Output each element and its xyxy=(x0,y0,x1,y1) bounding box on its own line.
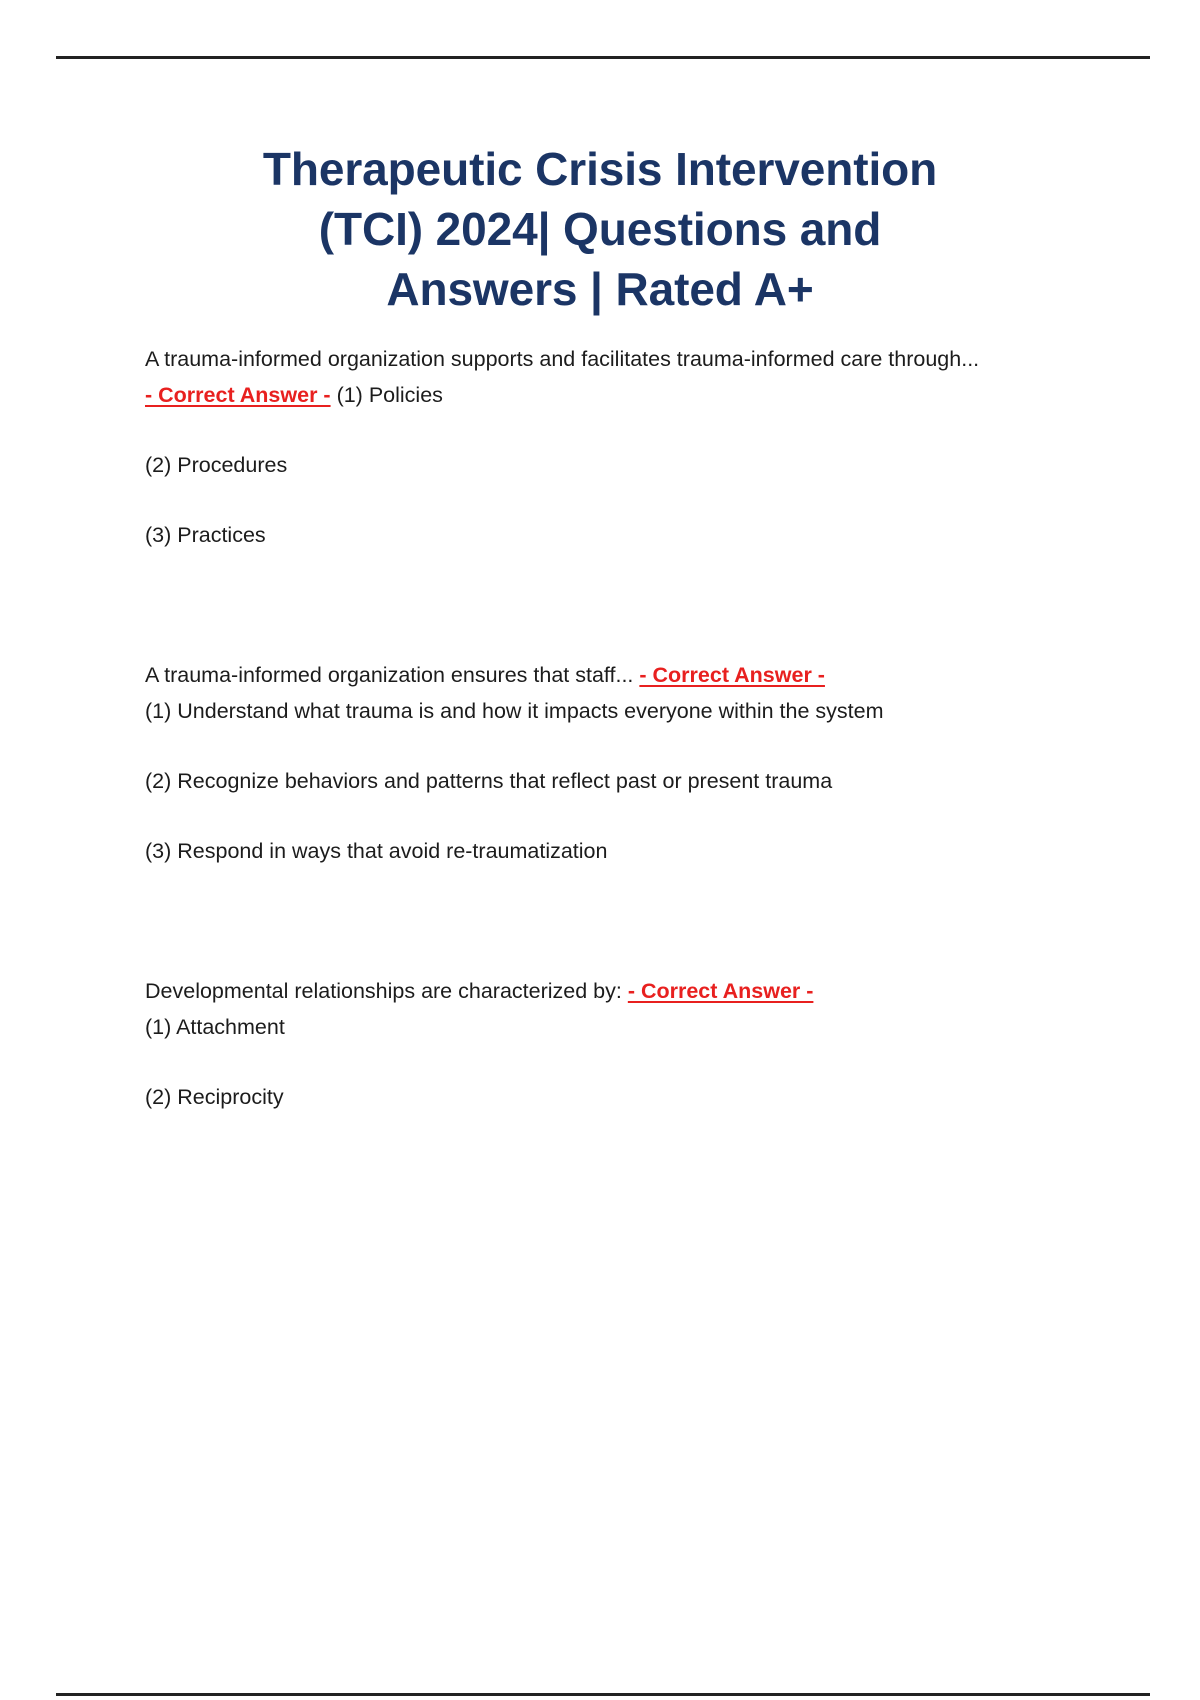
qa-body: A trauma-informed organization supports … xyxy=(145,341,1055,1115)
question-text: A trauma-informed organization ensures t… xyxy=(145,663,633,687)
correct-answer-marker: - Correct Answer - xyxy=(145,383,331,407)
answer-item: (2) Recognize behaviors and patterns tha… xyxy=(145,763,1055,799)
question-line: A trauma-informed organization supports … xyxy=(145,341,1055,413)
header-rule xyxy=(56,56,1150,59)
answer-item: (3) Practices xyxy=(145,517,1055,553)
question-line: A trauma-informed organization ensures t… xyxy=(145,657,1055,693)
answer-item: (1) Attachment xyxy=(145,1009,1055,1045)
block-spacer xyxy=(145,553,1055,657)
answer-item: (3) Respond in ways that avoid re-trauma… xyxy=(145,833,1055,869)
block-spacer xyxy=(145,869,1055,973)
footer-rule xyxy=(56,1693,1150,1696)
question-line: Developmental relationships are characte… xyxy=(145,973,1055,1009)
page-title-line-3: Answers | Rated A+ xyxy=(155,260,1045,320)
spacer xyxy=(145,729,1055,763)
first-answer-text: (1) Policies xyxy=(337,383,443,407)
spacer xyxy=(145,1045,1055,1079)
answer-item: (1) Understand what trauma is and how it… xyxy=(145,693,1055,729)
page-title: Therapeutic Crisis Intervention (TCI) 20… xyxy=(145,140,1055,319)
answer-item: (2) Reciprocity xyxy=(145,1079,1055,1115)
document-content: Therapeutic Crisis Intervention (TCI) 20… xyxy=(145,140,1055,1115)
page-title-line-1: Therapeutic Crisis Intervention xyxy=(155,140,1045,200)
document-page: Therapeutic Crisis Intervention (TCI) 20… xyxy=(0,0,1200,1700)
question-text: Developmental relationships are characte… xyxy=(145,979,622,1003)
answer-item: (2) Procedures xyxy=(145,447,1055,483)
qa-block: Developmental relationships are characte… xyxy=(145,973,1055,1115)
spacer xyxy=(145,413,1055,447)
question-text: A trauma-informed organization supports … xyxy=(145,347,979,371)
qa-block: A trauma-informed organization ensures t… xyxy=(145,657,1055,869)
spacer xyxy=(145,483,1055,517)
correct-answer-marker: - Correct Answer - xyxy=(628,979,814,1003)
spacer xyxy=(145,799,1055,833)
correct-answer-marker: - Correct Answer - xyxy=(639,663,825,687)
page-title-line-2: (TCI) 2024| Questions and xyxy=(155,200,1045,260)
qa-block: A trauma-informed organization supports … xyxy=(145,341,1055,553)
